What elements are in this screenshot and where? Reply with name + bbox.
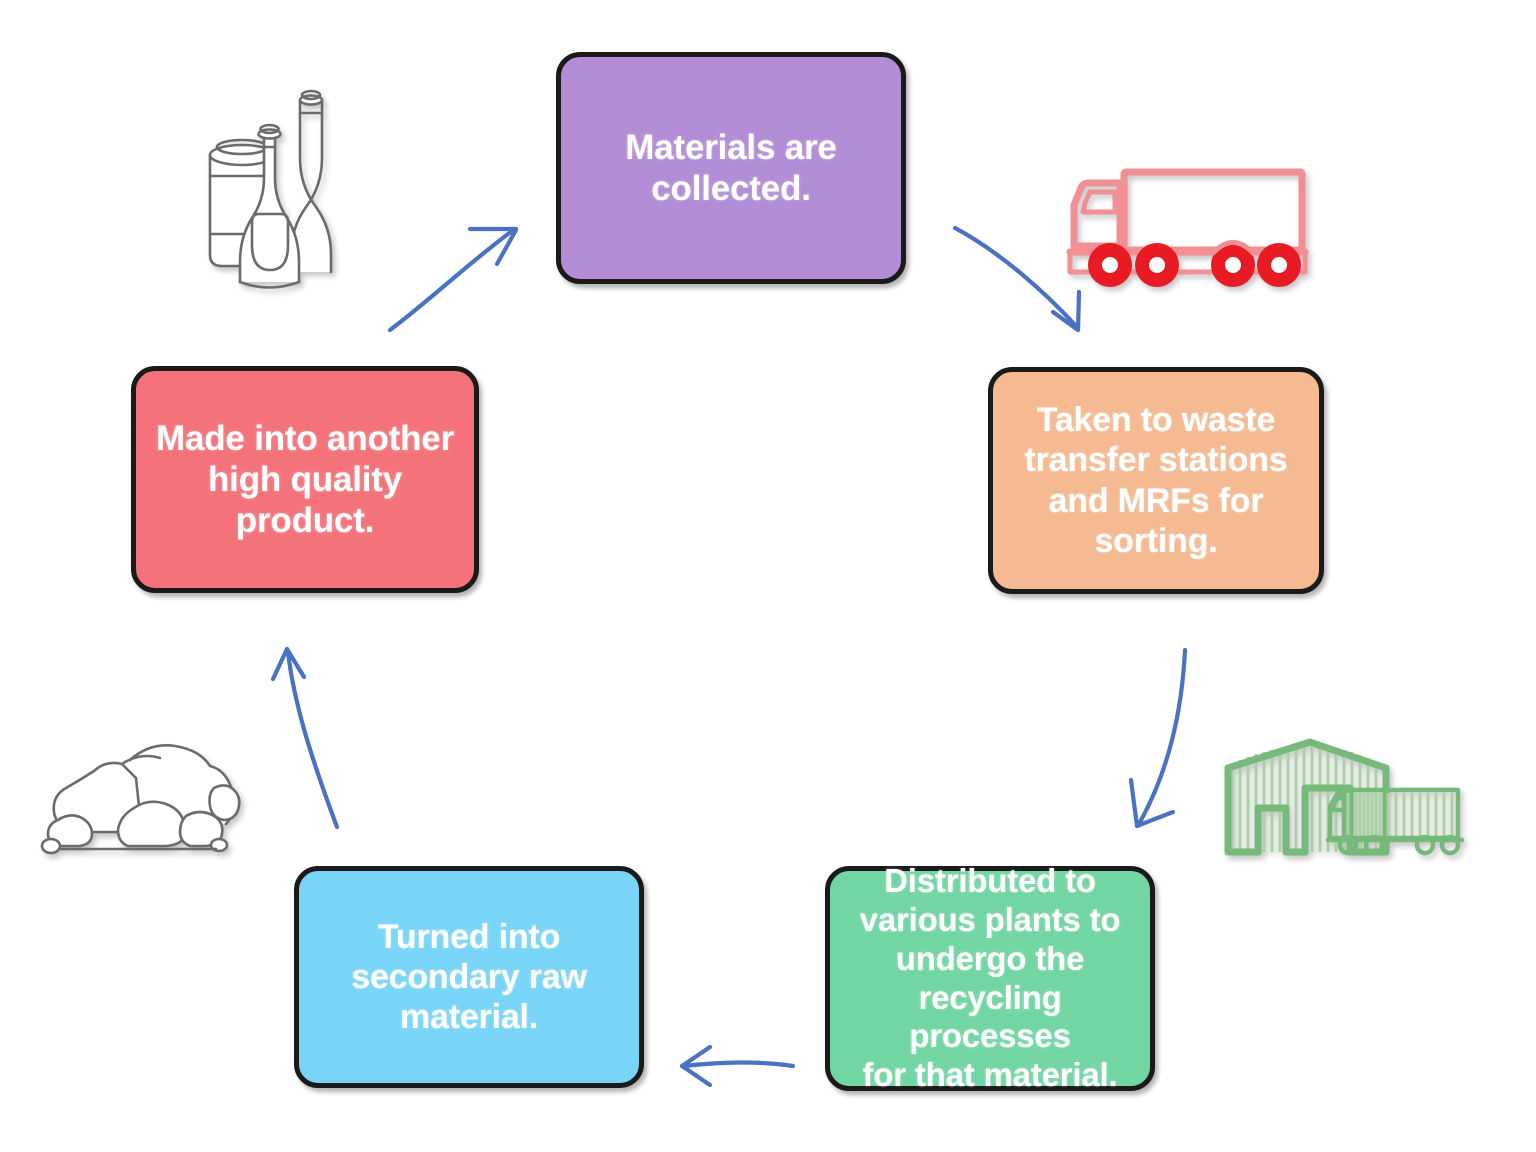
process-step-materials-collected[interactable]: Materials are collected.: [556, 52, 906, 284]
warehouse-and-truck-icon: [1228, 742, 1462, 853]
rock-pile-icon: [42, 745, 239, 853]
arrow-secondary-to-product: [273, 649, 337, 827]
process-step-distributed-to-plants[interactable]: Distributed to various plants to undergo…: [825, 866, 1155, 1091]
diagram-canvas: Materials are collected. Taken to waste …: [0, 0, 1536, 1152]
arrow-transfer-to-plants: [1131, 650, 1185, 826]
process-step-secondary-raw-material[interactable]: Turned into secondary raw material.: [294, 866, 644, 1088]
arrow-plants-to-secondary: [682, 1047, 793, 1085]
glass-bottles-and-jar-icon: [210, 91, 331, 288]
delivery-truck-icon: [1070, 172, 1305, 287]
process-step-transfer-stations[interactable]: Taken to waste transfer stations and MRF…: [988, 367, 1324, 594]
arrow-collected-to-transfer: [955, 228, 1079, 330]
process-step-new-product[interactable]: Made into another high quality product.: [131, 366, 479, 593]
arrow-product-to-collected: [390, 229, 516, 330]
